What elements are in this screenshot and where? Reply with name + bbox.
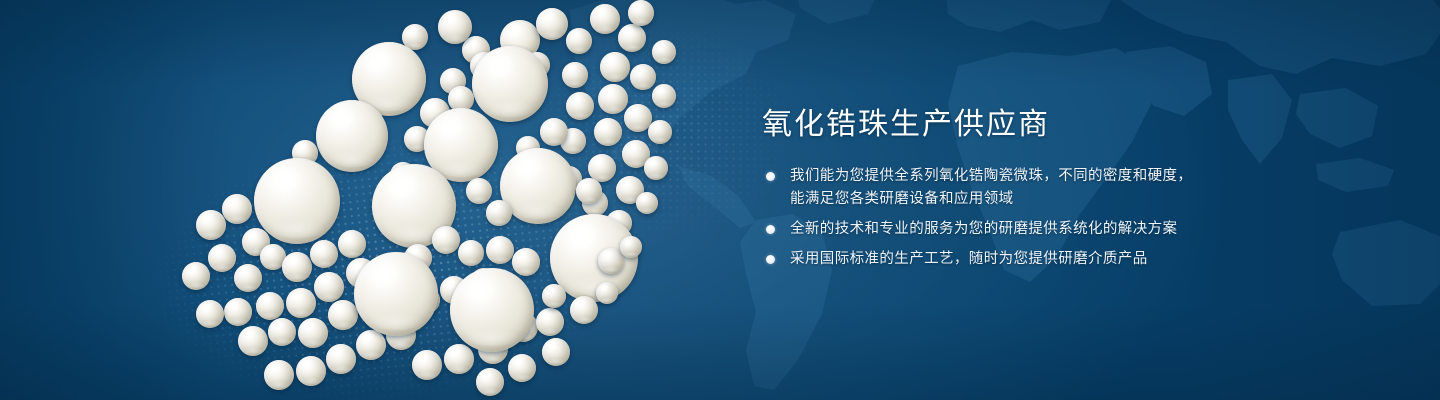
banner-copy: 氧化锆珠生产供应商 我们能为您提供全系列氧化锆陶瓷微珠，不同的密度和硬度， 能满… [762, 108, 1232, 271]
page-title: 氧化锆珠生产供应商 [762, 108, 1232, 143]
list-item-line2: 能满足您各类研磨设备和应用领域 [790, 188, 1232, 211]
bullet-dot-icon [766, 255, 775, 264]
feature-list: 我们能为您提供全系列氧化锆陶瓷微珠，不同的密度和硬度， 能满足您各类研磨设备和应… [762, 165, 1232, 271]
list-item: 全新的技术和专业的服务为您的研磨提供系统化的解决方案 [762, 218, 1232, 241]
list-item: 我们能为您提供全系列氧化锆陶瓷微珠，不同的密度和硬度， 能满足您各类研磨设备和应… [762, 165, 1232, 211]
bullet-dot-icon [766, 225, 775, 234]
list-item-line1: 我们能为您提供全系列氧化锆陶瓷微珠，不同的密度和硬度， [790, 168, 1192, 184]
list-item-line1: 采用国际标准的生产工艺，随时为您提供研磨介质产品 [790, 251, 1148, 267]
hero-banner: 氧化锆珠生产供应商 我们能为您提供全系列氧化锆陶瓷微珠，不同的密度和硬度， 能满… [0, 0, 1440, 400]
bullet-dot-icon [766, 172, 775, 181]
list-item-line1: 全新的技术和专业的服务为您的研磨提供系统化的解决方案 [790, 221, 1177, 237]
list-item: 采用国际标准的生产工艺，随时为您提供研磨介质产品 [762, 248, 1232, 271]
